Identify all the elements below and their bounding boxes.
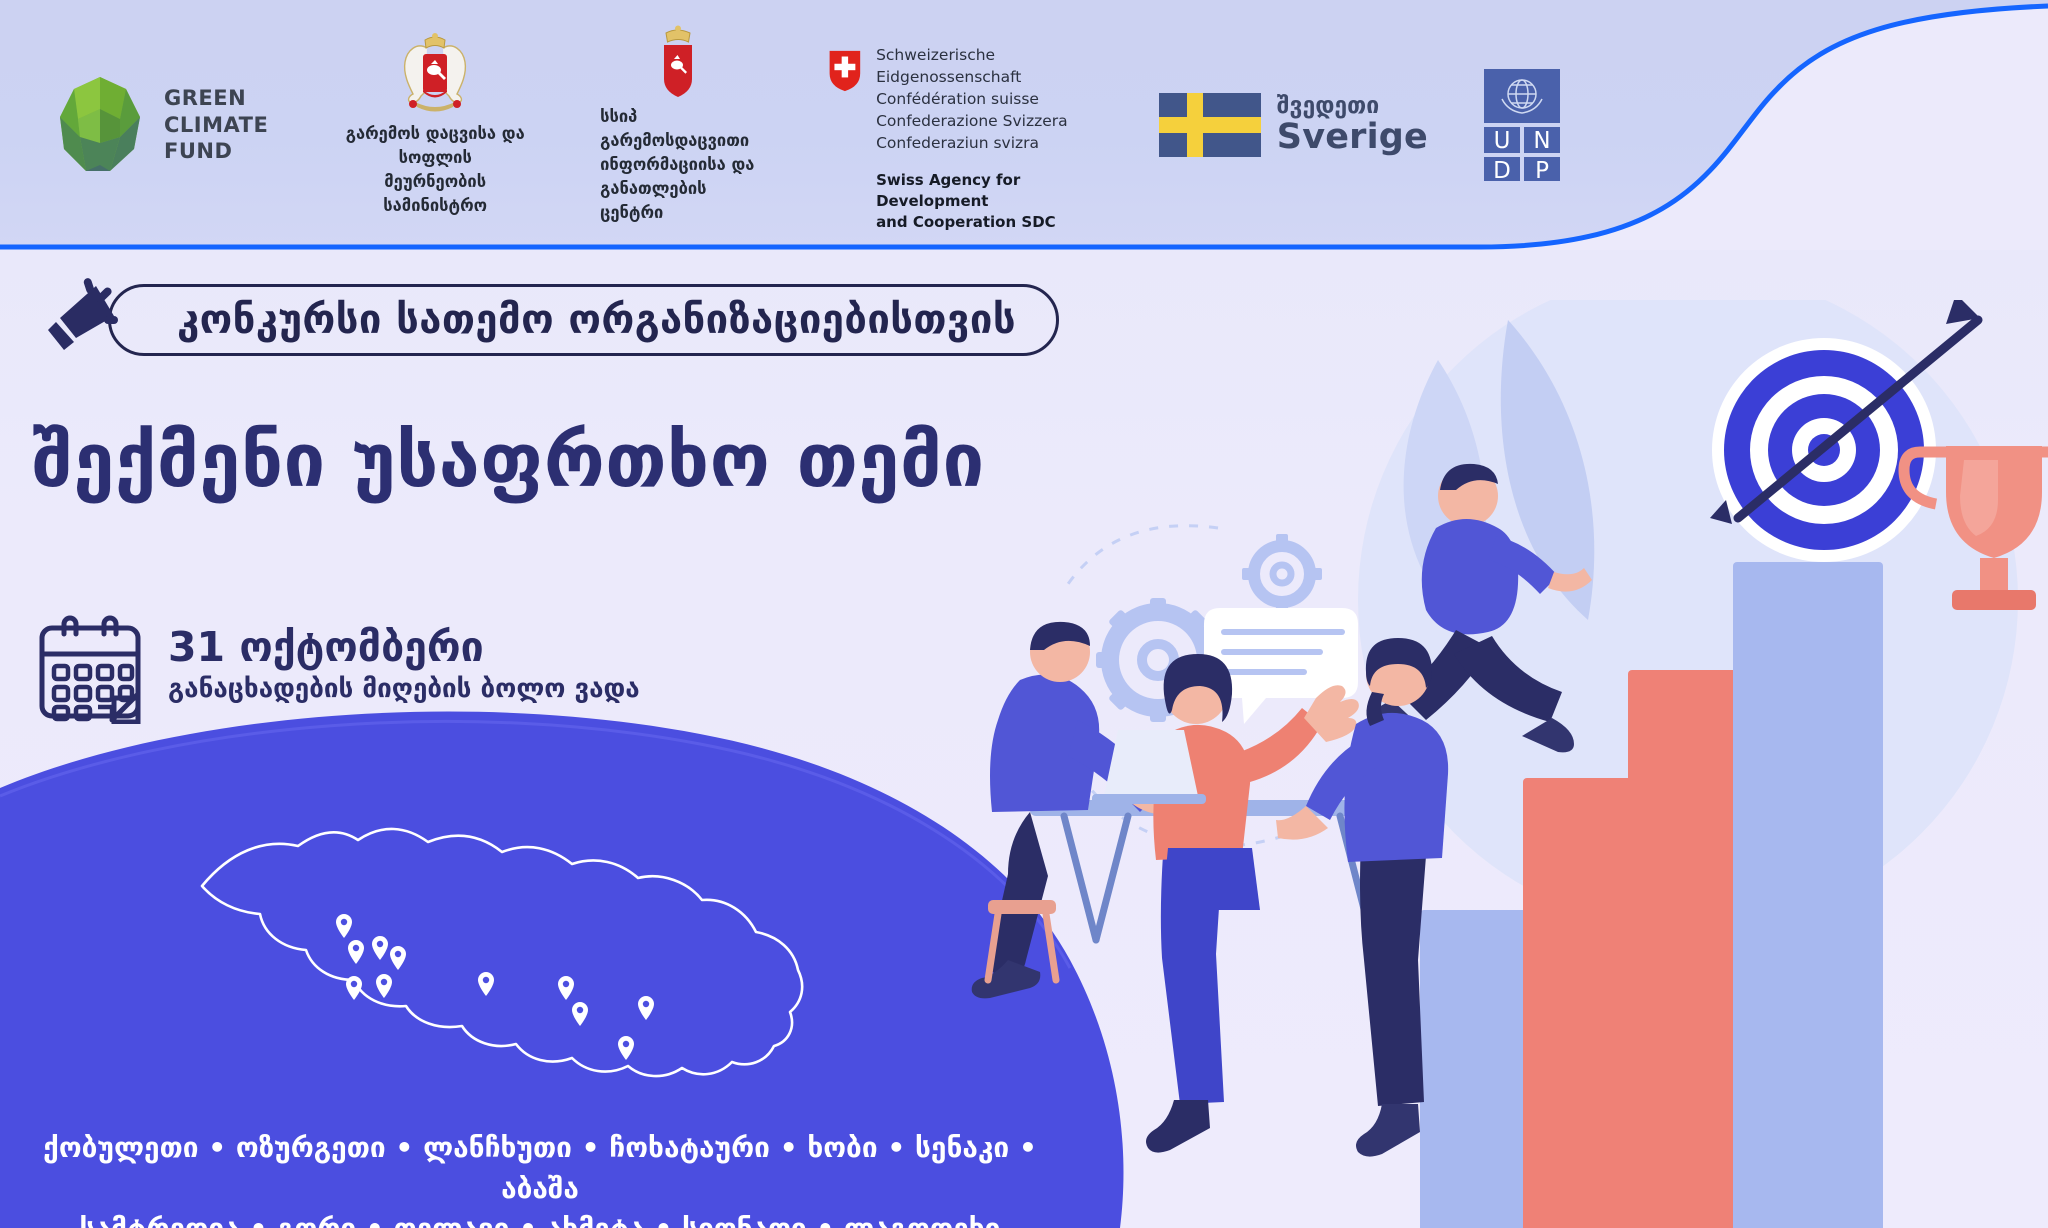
logo-environmental-info-centre: სსიპ გარემოსდაცვითი ინფორმაციისა და განა… [600,25,756,225]
swiss-line-fr: Confédération suisse [876,88,1093,110]
sweden-label-ka: შვედეთი [1277,94,1428,118]
eiec-line-2: ინფორმაციისა და [600,153,756,177]
logo-undp: U N D P [1484,69,1560,181]
deadline-text: 31 ოქტომბერი განაცხადების მიღების ბოლო ვ… [168,612,640,704]
mepa-line-2: მეურნეობის სამინისტრო [330,170,540,218]
eiec-line-1: სსიპ გარემოსდაცვითი [600,105,756,153]
georgia-coat-of-arms-icon [391,32,479,118]
gcf-line-2: CLIMATE [164,112,268,139]
swiss-cross-shield-icon [828,44,862,98]
swiss-line-de: Schweizerische Eidgenossenschaft [876,44,1093,88]
eiec-wordmark: სსიპ გარემოსდაცვითი ინფორმაციისა და განა… [600,105,756,225]
georgia-outline-map [190,790,830,1120]
megaphone-icon [30,276,122,364]
municipality-line-2: სამტრედია • გორი • თელავი • ახმეტა • სიღ… [0,1209,1080,1228]
svg-text:N: N [1533,128,1550,154]
seated-man-figure [972,622,1178,999]
swiss-line-rm: Confederaziun svizra [876,132,1093,154]
eiec-shield-icon [656,25,700,101]
mepa-line-1: გარემოს დაცვისა და სოფლის [330,122,540,170]
municipality-line-1: ქობულეთი • ოზურგეთი • ლანჩხუთი • ჩოხატაუ… [43,1131,1037,1205]
swiss-line-it: Confederazione Svizzera [876,110,1093,132]
gcf-line-1: GREEN [164,85,268,112]
logo-swiss-confederation: Schweizerische Eidgenossenschaft Confédé… [828,18,1093,233]
green-climate-fund-wordmark: GREEN CLIMATE FUND [164,85,268,166]
undp-icon: U N D P [1484,69,1560,181]
sweden-wordmark: შვედეთი Sverige [1277,94,1428,157]
svg-text:P: P [1535,158,1549,181]
logo-green-climate-fund: GREEN CLIMATE FUND [54,75,268,175]
municipality-list: ქობულეთი • ოზურგეთი • ლანჩხუთი • ჩოხატაუ… [0,1128,1080,1228]
sdc-line-1: Swiss Agency for Development [876,170,1093,212]
badge-pill: კონკურსი სათემო ორგანიზაციებისთვის [108,284,1059,356]
badge-label: კონკურსი სათემო ორგანიზაციებისთვის [177,297,1016,343]
header-band: GREEN CLIMATE FUND [0,0,2048,250]
standing-woman-figure [1146,654,1359,1153]
svg-text:U: U [1494,128,1511,154]
logo-ministry-environment: გარემოს დაცვისა და სოფლის მეურნეობის სამ… [330,32,540,218]
svg-text:D: D [1493,158,1511,181]
poster: GREEN CLIMATE FUND [0,0,2048,1228]
logo-sweden-sverige: შვედეთი Sverige [1159,93,1428,157]
teamwork-illustration [968,300,2048,1228]
ministry-environment-wordmark: გარემოს დაცვისა და სოფლის მეურნეობის სამ… [330,122,540,218]
swiss-wordmark: Schweizerische Eidgenossenschaft Confédé… [876,44,1093,233]
partner-logos: GREEN CLIMATE FUND [0,0,1560,250]
eiec-line-3: განათლების ცენტრი [600,177,756,225]
page-title: შექმენი უსაფრთხო თემი [32,418,985,504]
green-climate-fund-icon [54,75,146,175]
deadline-date: 31 ოქტომბერი [168,626,640,669]
map-pins [336,914,654,1060]
sweden-label-en: Sverige [1277,118,1428,157]
sweden-flag-icon [1159,93,1261,157]
gcf-line-3: FUND [164,138,268,165]
sdc-line-2: and Cooperation SDC [876,212,1093,233]
announcement-badge: კონკურსი სათემო ორგანიზაციებისთვის [30,276,1059,364]
